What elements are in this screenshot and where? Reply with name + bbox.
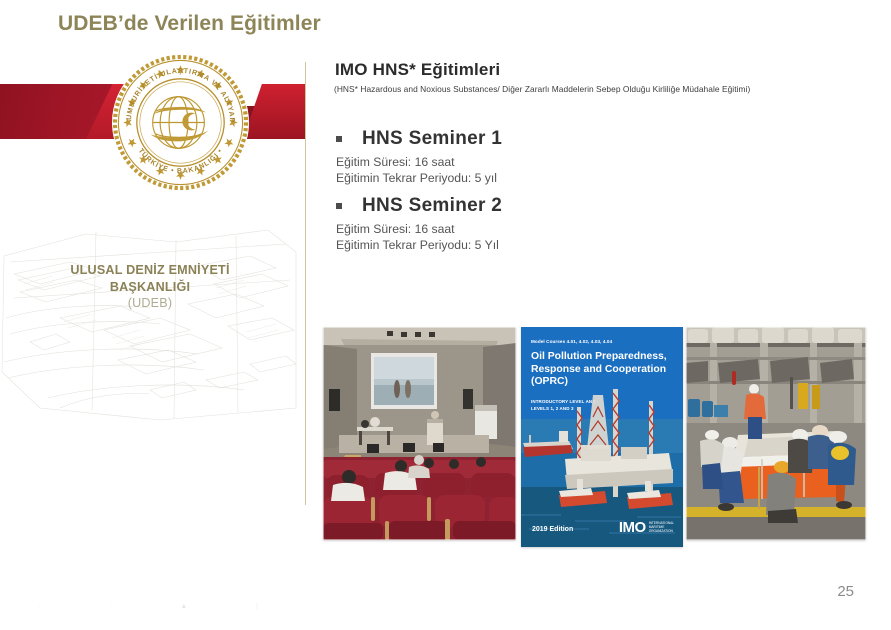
- org-line-1: ULUSAL DENİZ EMNİYETİ: [0, 262, 300, 279]
- period-label: Eğitimin Tekrar Periyodu:: [336, 238, 471, 252]
- training-list: HNS Seminer 1 Eğitim Süresi: 16 saat Eği…: [336, 126, 756, 260]
- footer-mark-3: |: [256, 603, 258, 610]
- content-heading: IMO HNS* Eğitimleri: [335, 60, 500, 80]
- duration-value: 16 saat: [415, 222, 455, 236]
- imo-logo-text: IMO: [619, 519, 646, 536]
- slide-canvas: UDEB’de Verilen Eğitimler: [0, 0, 891, 630]
- training-period: Eğitimin Tekrar Periyodu: 5 yıl: [336, 170, 756, 186]
- period-value: 5 yıl: [475, 171, 497, 185]
- book-cover-art: Model Courses 4.01, 4.02, 4.03, 4.04 Oil…: [521, 327, 683, 547]
- page-number: 25: [837, 583, 854, 600]
- training-details: Eğitim Süresi: 16 saat Eğitimin Tekrar P…: [336, 154, 756, 186]
- ministry-emblem-icon: CUMHURİYETİ ULAŞTIRMA VE ALTYAPI TÜRKİYE…: [111, 53, 250, 192]
- organization-caption: ULUSAL DENİZ EMNİYETİ BAŞKANLIĞI (UDEB): [0, 262, 300, 312]
- seminar-hall-photo: [323, 327, 516, 540]
- duration-label: Eğitim Süresi:: [336, 222, 411, 236]
- training-duration: Eğitim Süresi: 16 saat: [336, 221, 756, 237]
- oil-spill-drill-photo: KEGA: [686, 327, 866, 540]
- imo-oprc-book-cover: Model Courses 4.01, 4.02, 4.03, 4.04 Oil…: [521, 327, 683, 547]
- imo-sub-line3: ORGANIZATION: [649, 529, 673, 533]
- footer-decoration: · · ▲ |: [38, 600, 258, 612]
- site-plan-blueprint: [0, 222, 300, 422]
- left-branding-panel: CUMHURİYETİ ULAŞTIRMA VE ALTYAPI TÜRKİYE…: [0, 0, 306, 630]
- vertical-divider: [305, 62, 306, 505]
- bullet-square-icon: [336, 203, 342, 209]
- org-abbreviation: (UDEB): [0, 295, 300, 312]
- training-title: HNS Seminer 2: [362, 195, 502, 217]
- content-subtitle: (HNS* Hazardous and Noxious Substances/ …: [334, 84, 750, 94]
- imo-logo-subtext: INTERNATIONAL MARITIME ORGANIZATION: [649, 521, 674, 533]
- training-duration: Eğitim Süresi: 16 saat: [336, 154, 756, 170]
- training-details: Eğitim Süresi: 16 saat Eğitimin Tekrar P…: [336, 221, 756, 253]
- duration-label: Eğitim Süresi:: [336, 155, 411, 169]
- footer-mark-2: ▲: [180, 603, 187, 610]
- bullet-square-icon: [336, 136, 342, 142]
- period-label: Eğitimin Tekrar Periyodu:: [336, 171, 471, 185]
- list-item: HNS Seminer 1: [336, 126, 756, 151]
- training-title: HNS Seminer 1: [362, 128, 502, 150]
- training-period: Eğitimin Tekrar Periyodu: 5 Yıl: [336, 237, 756, 253]
- list-item: HNS Seminer 2: [336, 193, 756, 218]
- org-line-2: BAŞKANLIĞI: [0, 279, 300, 296]
- footer-mark-1: ·: [109, 603, 111, 610]
- period-value: 5 Yıl: [475, 238, 499, 252]
- imo-logo: IMO INTERNATIONAL MARITIME ORGANIZATION: [619, 519, 674, 536]
- footer-mark-0: ·: [38, 603, 40, 610]
- book-edition: 2019 Edition: [532, 526, 573, 533]
- duration-value: 16 saat: [415, 155, 455, 169]
